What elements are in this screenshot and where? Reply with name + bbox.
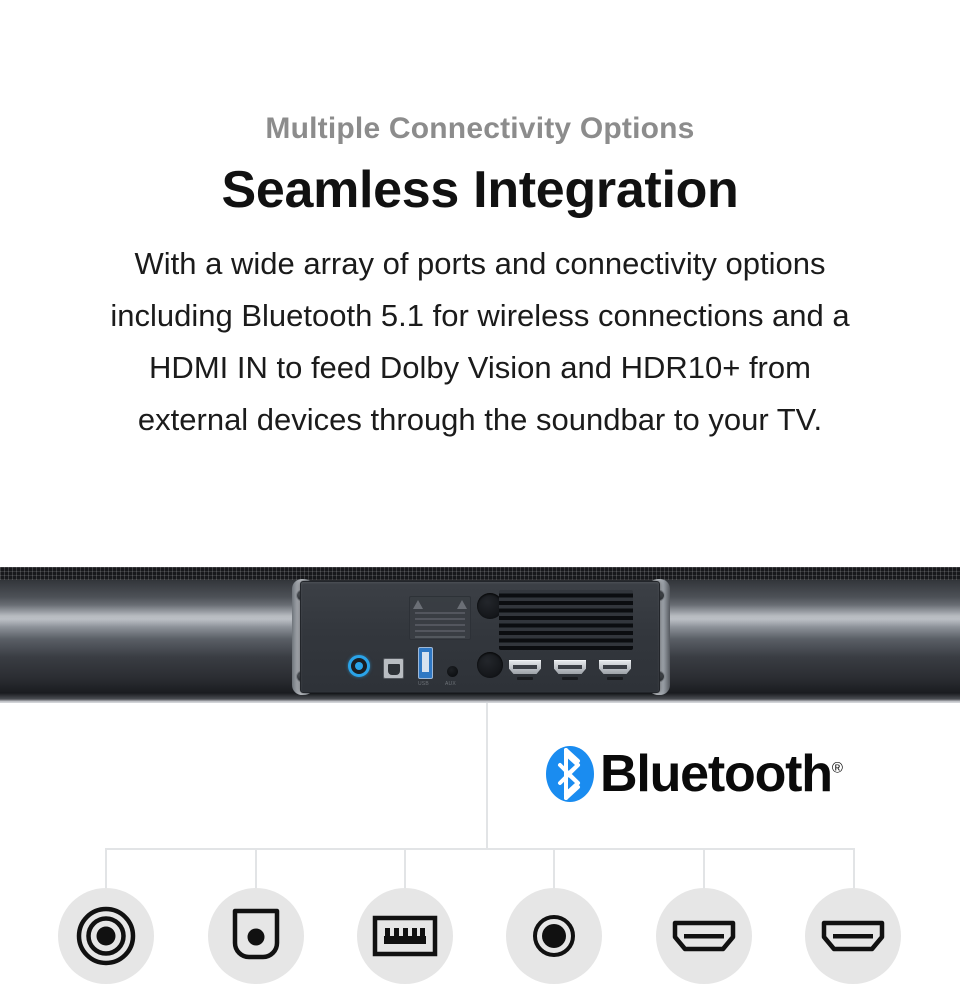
warning-label — [409, 596, 471, 640]
hdmi-arc-port-icon[interactable] — [805, 888, 901, 984]
hdmi-tab — [607, 677, 623, 680]
hdmi-port — [509, 660, 541, 674]
rear-port-panel: USB AUX — [300, 581, 660, 693]
hdmi-port — [599, 660, 631, 674]
mount-hole — [477, 652, 503, 678]
optical-toslink-icon[interactable] — [208, 888, 304, 984]
bluetooth-word-text: Bluetooth — [600, 745, 832, 803]
bluetooth-icon — [546, 746, 594, 802]
warning-triangle-icon — [413, 600, 423, 609]
hero-text-block: Multiple Connectivity Options Seamless I… — [0, 0, 960, 446]
bluetooth-logo: Bluetooth® — [546, 746, 842, 802]
hdmi-tab — [517, 677, 533, 680]
usb-port — [418, 647, 433, 679]
hdmi-tab — [562, 677, 578, 680]
aux-label: AUX — [445, 681, 456, 687]
connectivity-icon-row — [0, 888, 960, 988]
usb-label: USB — [418, 681, 429, 687]
ventilation-grille — [499, 590, 633, 650]
icon-connector-bar — [105, 848, 855, 850]
bluetooth-connector-line — [486, 703, 488, 849]
eyebrow-label: Multiple Connectivity Options — [0, 112, 960, 146]
hdmi-port — [554, 660, 586, 674]
coaxial-digital-audio-icon[interactable] — [58, 888, 154, 984]
registered-trademark-icon: ® — [832, 760, 842, 777]
aux-jack — [447, 666, 458, 677]
hdmi-port-icon[interactable] — [656, 888, 752, 984]
usb-a-port-icon[interactable] — [357, 888, 453, 984]
coaxial-jack — [348, 655, 370, 677]
optical-jack — [383, 658, 404, 679]
speaker-grille-texture — [0, 567, 960, 580]
aux-3-5mm-jack-icon[interactable] — [506, 888, 602, 984]
page-title: Seamless Integration — [0, 160, 960, 220]
hero-description: With a wide array of ports and connectiv… — [100, 238, 860, 446]
connectivity-feature-page: Multiple Connectivity Options Seamless I… — [0, 0, 960, 1000]
warning-text-lines — [415, 612, 465, 638]
bluetooth-wordmark: Bluetooth® — [600, 748, 842, 800]
warning-triangle-icon — [457, 600, 467, 609]
